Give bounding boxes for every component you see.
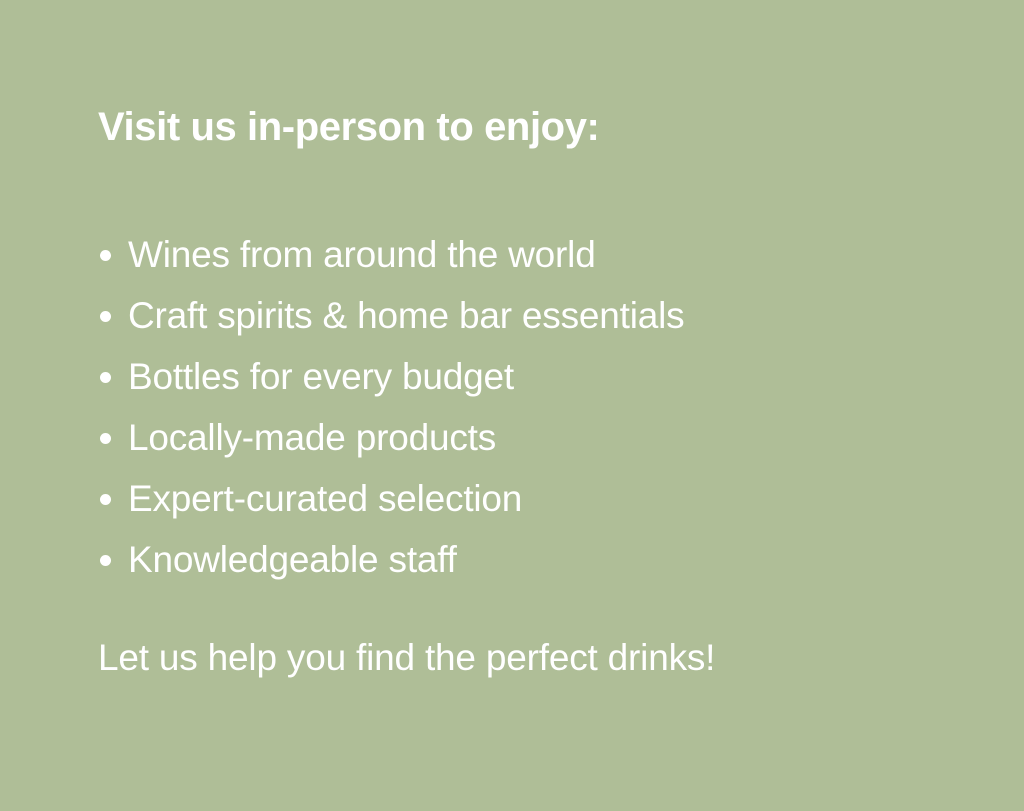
list-item: Bottles for every budget — [98, 346, 684, 407]
list-item-label: Knowledgeable staff — [128, 537, 457, 583]
list-item: Expert-curated selection — [98, 468, 684, 529]
list-item: Craft spirits & home bar essentials — [98, 285, 684, 346]
benefits-list: Wines from around the world Craft spirit… — [98, 224, 684, 590]
list-item: Wines from around the world — [98, 224, 684, 285]
list-item-label: Bottles for every budget — [128, 354, 514, 400]
content-container: Visit us in-person to enjoy: Wines from … — [98, 0, 958, 811]
list-item-label: Locally-made products — [128, 415, 496, 461]
list-item: Knowledgeable staff — [98, 529, 684, 590]
list-item-label: Expert-curated selection — [128, 476, 522, 522]
list-item-label: Wines from around the world — [128, 232, 596, 278]
list-item: Locally-made products — [98, 407, 684, 468]
promotional-slide: Visit us in-person to enjoy: Wines from … — [0, 0, 1024, 811]
closing-statement: Let us help you find the perfect drinks! — [98, 635, 715, 681]
bullet-dot-icon — [100, 372, 111, 383]
bullet-dot-icon — [100, 250, 111, 261]
bullet-dot-icon — [100, 555, 111, 566]
page-title: Visit us in-person to enjoy: — [98, 101, 599, 153]
bullet-dot-icon — [100, 494, 111, 505]
list-item-label: Craft spirits & home bar essentials — [128, 293, 684, 339]
bullet-dot-icon — [100, 311, 111, 322]
bullet-dot-icon — [100, 433, 111, 444]
